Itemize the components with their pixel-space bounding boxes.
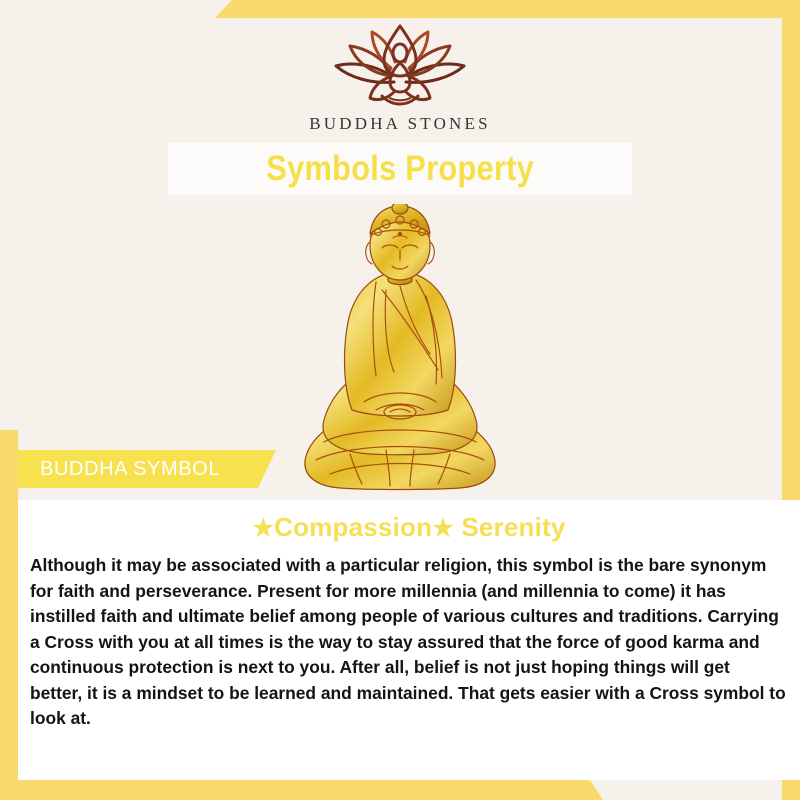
category-tag-label: BUDDHA SYMBOL: [40, 458, 220, 481]
page-title-band: Symbols Property: [168, 143, 632, 195]
frame-top-bar: [0, 0, 800, 18]
star-icon-right: ★: [432, 515, 454, 542]
keyword-serenity: Serenity: [454, 512, 566, 542]
star-icon-left: ★: [252, 515, 274, 542]
brand-header: BUDDHA STONES: [0, 22, 800, 134]
frame-bottom-bar: [0, 780, 800, 800]
page-title: Symbols Property: [266, 149, 534, 189]
brand-name: BUDDHA STONES: [309, 114, 491, 134]
category-tag: BUDDHA SYMBOL: [18, 450, 276, 488]
keyword-compassion: Compassion: [274, 512, 432, 542]
content-subheading: ★Compassion★ Serenity: [18, 512, 800, 543]
golden-seated-buddha: [290, 204, 510, 500]
content-card: ★Compassion★ Serenity Although it may be…: [18, 500, 800, 780]
content-paragraph: Although it may be associated with a par…: [30, 553, 786, 732]
infographic-page: BUDDHA STONES Symbols Property: [0, 0, 800, 800]
lotus-meditation-icon: [320, 22, 480, 110]
